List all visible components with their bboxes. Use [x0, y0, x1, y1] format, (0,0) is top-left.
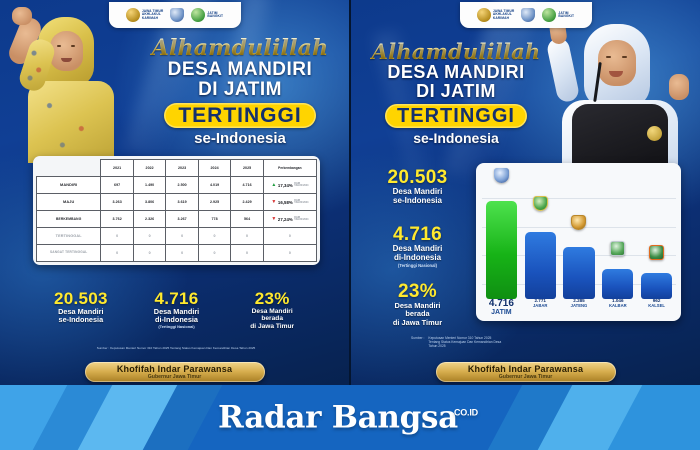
source-body: Keputusan Menteri Nomor 310 Tahun 2025 T…: [428, 336, 501, 348]
cell: 1.490: [133, 177, 165, 194]
statistics-table: 2021 2022 2023 2024 2025 Perkembangan MA…: [36, 159, 317, 262]
bangkit-emblem-icon: [191, 8, 205, 22]
row-label-mandiri: MANDIRI: [37, 177, 101, 194]
change-cell: 0: [263, 228, 316, 245]
bar: [602, 269, 633, 299]
bar-column-jateng: [563, 170, 594, 299]
stat-number: 23%: [224, 290, 320, 308]
arrow-up-icon: ▲: [271, 183, 276, 188]
row-label-berkembang: BERKEMBANG: [37, 211, 101, 228]
nameplate-right: Khofifah Indar Parawansa Gubernur Jawa T…: [436, 362, 616, 382]
stat-label: Desa Mandirise-Indonesia: [365, 188, 470, 206]
province-bar-chart-card: 4.716 JATIM 2.771 JABAR 2.285 JATENG 1.0…: [476, 163, 681, 321]
eye: [57, 45, 61, 47]
akhlak-emblem-icon: [126, 8, 140, 22]
table-row: BERKEMBANG 3.762 2.326 3.267 778 564 ▼ 2…: [37, 211, 317, 228]
headline-line-2: DI JATIM: [140, 80, 340, 100]
batik-outfit: [28, 81, 114, 163]
chart-x-labels: 4.716 JATIM 2.771 JABAR 2.285 JATENG 1.0…: [482, 299, 676, 319]
stat-jatim-mandiri: 4.716 Desa Mandiridi-Indonesia (Tertingg…: [129, 290, 225, 329]
change-percent: 17,34%: [278, 183, 293, 188]
sleeve: [17, 36, 58, 93]
bar: [563, 247, 594, 299]
table-row: TERTINGGAL 0 0 0 0 0 0: [37, 228, 317, 245]
bar-category: JATENG: [563, 304, 594, 308]
stat-number: 4.716: [365, 225, 470, 245]
change-percent: 27,24%: [278, 217, 293, 222]
brand-name: Radar Bangsa: [218, 399, 458, 435]
change-cell: ▼ 27,24% DARITAHUN 2024: [263, 211, 316, 228]
microphone: [593, 62, 602, 102]
nameplate-left: Khofifah Indar Parawansa Gubernur Jawa T…: [85, 362, 265, 382]
change-cell: ▼ 16,58% DARITAHUN 2024: [263, 194, 316, 211]
hand: [12, 7, 32, 25]
bar-category: KALBAR: [602, 304, 633, 308]
row-label-sangat-tertinggal: SANGAT TERTINGGAL: [37, 245, 101, 262]
arrow-down-icon: ▼: [271, 217, 276, 222]
bar-category: JABAR: [525, 304, 556, 308]
cell: 2.925: [198, 194, 230, 211]
stat-label: Desa Mandirise-Indonesia: [33, 308, 129, 324]
left-poster-panel: JAWA TIMURAKHLAKULKARIMAH JATIMBANGKIT: [0, 0, 349, 385]
mouth: [61, 58, 72, 62]
right-stat-total: 20.503 Desa Mandirise-Indonesia: [365, 168, 470, 206]
cell: 0: [133, 245, 165, 262]
bar: [525, 232, 556, 299]
stat-number: 20.503: [33, 290, 129, 308]
left-stats-row: 20.503 Desa Mandirise-Indonesia 4.716 De…: [33, 290, 320, 330]
right-stat-jatim: 4.716 Desa Mandiridi-Indonesia (Tertingg…: [365, 225, 470, 268]
raised-fist: [669, 74, 689, 100]
headline-line-3: se-Indonesia: [361, 130, 551, 147]
bangkit-logo-text: JATIMBANGKIT: [558, 12, 574, 19]
hijab: [38, 17, 94, 87]
kalbar-emblem-icon: [610, 241, 625, 256]
akhlak-logo-text: JAWA TIMURAKHLAKULKARIMAH: [142, 10, 164, 20]
bar-column-jabar: [525, 170, 556, 299]
table-col-2021: 2021: [101, 160, 133, 177]
table-header-row: 2021 2022 2023 2024 2025 Perkembangan: [37, 160, 317, 177]
cell: 564: [231, 211, 263, 228]
cell: 0: [101, 245, 133, 262]
panel-divider: [349, 0, 351, 385]
stat-sub: (Tertinggi Nasional): [365, 263, 470, 268]
governor-name: Khofifah Indar Parawansa: [448, 364, 604, 374]
eye: [71, 45, 75, 47]
cell: 3.762: [101, 211, 133, 228]
top-logo-bar: JAWA TIMURAKHLAKULKARIMAH JATIMBANGKIT: [460, 2, 592, 28]
headline-line-1: DESA MANDIRI: [140, 60, 340, 80]
bar: [486, 201, 517, 299]
eye: [606, 56, 611, 58]
left-source-note: Sumber : Keputusan Menteri Nomor 310 Tah…: [30, 347, 322, 351]
cell: 697: [101, 177, 133, 194]
headline-line-3: se-Indonesia: [140, 130, 340, 148]
infographic-screenshot: JAWA TIMURAKHLAKULKARIMAH JATIMBANGKIT: [0, 0, 700, 450]
x-label-jateng: 2.285 JATENG: [563, 299, 594, 308]
table-row: MANDIRI 697 1.490 2.500 4.019 4.716 ▲ 17…: [37, 177, 317, 194]
table-col-2024: 2024: [198, 160, 230, 177]
cell: 0: [166, 228, 198, 245]
bar-value: 4.716: [486, 299, 517, 309]
cell: 3.263: [101, 194, 133, 211]
cell: 0: [198, 228, 230, 245]
jatim-akhlak-logo: JAWA TIMURAKHLAKULKARIMAH: [126, 8, 164, 22]
governor-name: Khofifah Indar Parawansa: [97, 364, 253, 374]
alhamdulillah-text: Alhamdulillah: [361, 40, 551, 63]
stat-percent-jatim: 23% Desa Mandiriberadadi Jawa Timur: [224, 290, 320, 330]
change-percent: 16,58%: [278, 200, 293, 205]
stat-label: Desa Mandiridi-Indonesia: [129, 308, 225, 324]
cell: 0: [166, 245, 198, 262]
bar-category: KALSEL: [641, 304, 672, 308]
raised-arm: [6, 15, 44, 68]
face: [598, 40, 636, 86]
cell: 3.267: [166, 211, 198, 228]
change-cell: ▲ 17,34% DARITAHUN 2024: [263, 177, 316, 194]
brand-wordmark: Radar BangsaCO.ID: [0, 399, 700, 435]
tertinggi-text: TERTINGGI: [178, 104, 301, 127]
headline-left: Alhamdulillah DESA MANDIRI DI JATIM TERT…: [140, 36, 340, 148]
cell: 4.019: [198, 177, 230, 194]
right-stat-percent: 23% Desa Mandiriberadadi Jawa Timur: [365, 282, 470, 327]
table-col-perkembangan: Perkembangan: [263, 160, 316, 177]
bangkit-emblem-icon: [542, 8, 556, 22]
face: [50, 31, 83, 71]
bar-column-kalsel: [641, 170, 672, 299]
stat-label: Desa Mandiriberadadi Jawa Timur: [365, 302, 470, 327]
statistics-table-card: 2021 2022 2023 2024 2025 Perkembangan MA…: [33, 156, 320, 265]
stat-number: 20.503: [365, 168, 470, 188]
cell: 4.716: [231, 177, 263, 194]
table-corner-blank: [37, 160, 101, 177]
headline-right: Alhamdulillah DESA MANDIRI DI JATIM TERT…: [361, 40, 551, 147]
x-label-jatim: 4.716 JATIM: [486, 299, 517, 316]
bangkit-logo-text: JATIMBANGKIT: [207, 12, 223, 19]
change-note: DARITAHUN 2024: [294, 217, 308, 222]
cell: 3.806: [133, 194, 165, 211]
cell: 0: [231, 228, 263, 245]
change-note: DARITAHUN 2024: [294, 200, 308, 205]
kalsel-emblem-icon: [649, 245, 664, 260]
top-logo-bar: JAWA TIMURAKHLAKULKARIMAH JATIMBANGKIT: [109, 2, 241, 28]
table-col-2023: 2023: [166, 160, 198, 177]
governor-title: Gubernur Jawa Timur: [97, 374, 253, 380]
table-col-2025: 2025: [231, 160, 263, 177]
stat-number: 4.716: [129, 290, 225, 308]
jatim-emblem-icon: [494, 168, 509, 183]
jabar-emblem-icon: [533, 196, 548, 211]
cell: 2.429: [231, 194, 263, 211]
cell: 2.326: [133, 211, 165, 228]
table-row: SANGAT TERTINGGAL 0 0 0 0 0 0: [37, 245, 317, 262]
table-col-2022: 2022: [133, 160, 165, 177]
row-label-maju: MAJU: [37, 194, 101, 211]
stat-label: Desa Mandiridi-Indonesia: [365, 245, 470, 263]
alhamdulillah-text: Alhamdulillah: [140, 36, 340, 60]
cell: 0: [198, 245, 230, 262]
cell: 0: [231, 245, 263, 262]
cell: 2.500: [166, 177, 198, 194]
row-label-tertinggal: TERTINGGAL: [37, 228, 101, 245]
bar-column-jatim: [486, 170, 517, 299]
x-label-kalbar: 1.046 KALBAR: [602, 299, 633, 308]
brand-suffix: CO.ID: [454, 407, 478, 417]
governor-title: Gubernur Jawa Timur: [448, 374, 604, 380]
tertinggi-badge: TERTINGGI: [164, 103, 315, 128]
cell: 0: [133, 228, 165, 245]
table-row: MAJU 3.263 3.806 3.619 2.925 2.429 ▼ 16,…: [37, 194, 317, 211]
jatim-bangkit-logo: JATIMBANGKIT: [542, 8, 574, 22]
arrow-down-icon: ▼: [271, 200, 276, 205]
headline-line-2: DI JATIM: [361, 82, 551, 101]
chart-plot-area: [482, 170, 676, 299]
bar-column-kalbar: [602, 170, 633, 299]
cell: 778: [198, 211, 230, 228]
radar-bangsa-banner: Radar BangsaCO.ID: [0, 385, 700, 450]
jateng-emblem-icon: [571, 215, 586, 230]
akhlak-emblem-icon: [477, 8, 491, 22]
change-note: DARITAHUN 2024: [294, 183, 308, 188]
tertinggi-badge: TERTINGGI: [385, 104, 527, 128]
tertinggi-text: TERTINGGI: [397, 105, 515, 127]
akhlak-logo-text: JAWA TIMURAKHLAKULKARIMAH: [493, 10, 515, 20]
cell: 0: [101, 228, 133, 245]
right-poster-panel: JAWA TIMURAKHLAKULKARIMAH JATIMBANGKIT: [351, 0, 700, 385]
jatim-akhlak-logo: JAWA TIMURAKHLAKULKARIMAH: [477, 8, 515, 22]
stat-sub: (Tertinggi Nasional): [129, 324, 225, 329]
smile: [609, 71, 623, 77]
stat-number: 23%: [365, 282, 470, 302]
bar-series: [482, 170, 676, 299]
headline-line-1: DESA MANDIRI: [361, 63, 551, 82]
hijab: [584, 24, 650, 108]
x-label-kalsel: 962 KALSEL: [641, 299, 672, 308]
change-cell: 0: [263, 245, 316, 262]
jatim-bangkit-logo: JATIMBANGKIT: [191, 8, 223, 22]
pemprov-jatim-logo-icon: [170, 8, 184, 22]
bar-category: JATIM: [486, 309, 517, 316]
bar: [641, 273, 672, 299]
eye: [622, 56, 627, 58]
x-label-jabar: 2.771 JABAR: [525, 299, 556, 308]
pemprov-jatim-logo-icon: [521, 8, 535, 22]
stat-label: Desa Mandiriberadadi Jawa Timur: [224, 308, 320, 330]
jacket-emblem-icon: [647, 126, 662, 141]
cell: 3.619: [166, 194, 198, 211]
right-source-note: Sumber : Keputusan Menteri Nomor 310 Tah…: [411, 336, 681, 348]
stat-total-indonesia: 20.503 Desa Mandirise-Indonesia: [33, 290, 129, 324]
source-prefix: Sumber :: [411, 336, 424, 348]
